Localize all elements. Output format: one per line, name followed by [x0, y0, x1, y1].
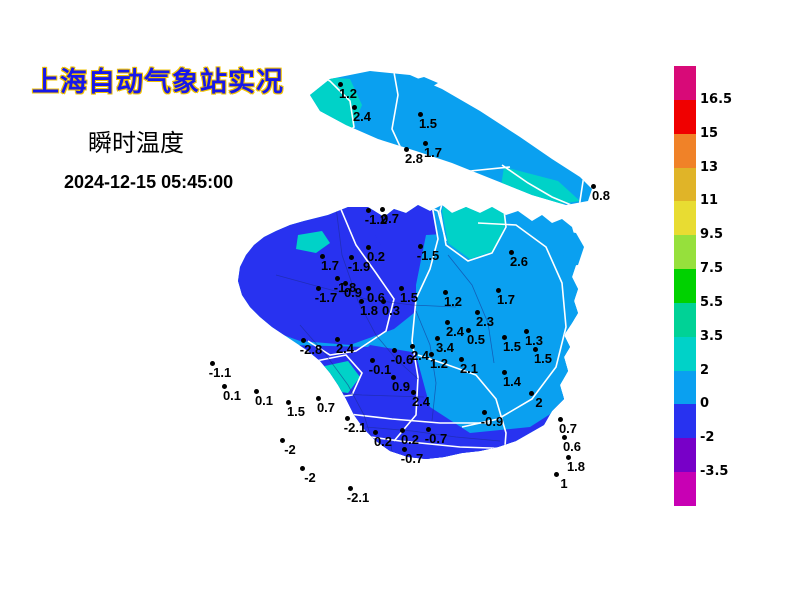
station-value-label: -1.1: [200, 366, 240, 379]
station-value-label: -0.9: [472, 415, 512, 428]
colorbar-band-6: [674, 269, 696, 303]
station-value-label: 0.7: [370, 212, 410, 225]
station-value-label: 0.3: [371, 304, 411, 317]
colorbar-tick-label: 9.5: [700, 227, 723, 242]
station-dot-icon: [529, 391, 534, 396]
station-value-label: 0.6: [552, 440, 592, 453]
station-value-label: -2.1: [338, 491, 378, 504]
colorbar-band-3: [674, 168, 696, 202]
colorbar-tick-label: -2: [700, 430, 714, 445]
chart-subtitle: 瞬时温度: [88, 123, 184, 158]
station-value-label: 1.2: [433, 295, 473, 308]
colorbar-band-8: [674, 337, 696, 371]
colorbar-band-11: [674, 438, 696, 472]
station-value-label: -2: [270, 443, 310, 456]
station-value-label: 2.1: [449, 362, 489, 375]
colorbar-band-4: [674, 201, 696, 235]
colorbar-tick-label: 16.5: [700, 92, 732, 107]
station-value-label: 1.7: [486, 293, 526, 306]
station-value-label: 1.7: [413, 146, 453, 159]
station-value-label: 2.4: [342, 110, 382, 123]
colorbar-tick-label: 0: [700, 396, 709, 411]
station-value-label: 2.4: [401, 395, 441, 408]
colorbar-band-7: [674, 303, 696, 337]
colorbar-band-12: [674, 472, 696, 506]
colorbar-band-10: [674, 404, 696, 438]
station-value-label: -2: [290, 471, 330, 484]
station-value-label: 0.7: [306, 401, 346, 414]
station-value-label: -2.8: [291, 343, 331, 356]
station-value-label: 2.6: [499, 255, 539, 268]
station-value-label: -2.1: [335, 421, 375, 434]
colorbar-tick-label: 5.5: [700, 295, 723, 310]
colorbar-tick-label: 15: [700, 126, 718, 141]
station-value-label: 0.8: [581, 189, 621, 202]
colorbar-tick-label: -3.5: [700, 464, 728, 479]
station-value-label: 2.4: [325, 342, 365, 355]
colorbar-tick-label: 11: [700, 193, 718, 208]
colorbar-tick-label: 2: [700, 363, 709, 378]
colorbar-band-5: [674, 235, 696, 269]
colorbar-band-1: [674, 100, 696, 134]
station-value-label: 1.5: [408, 117, 448, 130]
map-canvas[interactable]: 1.22.41.52.81.70.82.6-1.20.7-1.51.7-1.90…: [180, 55, 610, 560]
station-value-label: 2.4: [400, 349, 440, 362]
colorbar-tick-label: 3.5: [700, 329, 723, 344]
station-value-label: 1.4: [492, 375, 532, 388]
station-value-label: -0.7: [392, 452, 432, 465]
colorbar-tick-label: 7.5: [700, 261, 723, 276]
station-value-label: -1.5: [408, 249, 448, 262]
station-value-label: 1.5: [523, 352, 563, 365]
station-value-label: 1.8: [556, 460, 596, 473]
colorbar[interactable]: [674, 66, 696, 506]
station-value-label: 2: [519, 396, 559, 409]
colorbar-band-0: [674, 66, 696, 100]
station-value-label: 1.2: [328, 87, 368, 100]
colorbar-band-2: [674, 134, 696, 168]
station-dot-icon: [554, 472, 559, 477]
station-value-label: -0.1: [360, 363, 400, 376]
colorbar-tick-label: 13: [700, 160, 718, 175]
station-value-label: -0.7: [416, 432, 456, 445]
colorbar-band-9: [674, 371, 696, 405]
station-value-label: 1: [544, 477, 584, 490]
weather-map-page: 上海自动气象站实况 瞬时温度 2024-12-15 05:45:00: [0, 0, 800, 600]
station-value-label: 0.7: [548, 422, 588, 435]
station-value-label: 0.2: [356, 250, 396, 263]
